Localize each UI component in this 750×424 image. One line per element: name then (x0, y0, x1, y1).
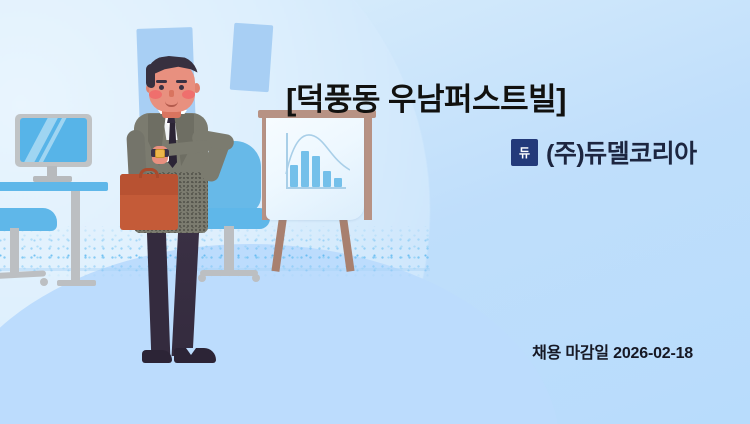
wristwatch-icon (155, 149, 165, 158)
eyebrow-right (176, 80, 187, 83)
easel-frame-right (364, 110, 372, 220)
trouser-leg-left (147, 225, 171, 356)
chair-wheel (40, 278, 48, 286)
chart-bar (290, 165, 298, 187)
company-name: (주)듀델코리아 (546, 134, 697, 170)
eye-right (179, 85, 184, 90)
left-office-chair-post (10, 228, 19, 276)
job-posting-banner: [덕풍동 우남퍼스트빌] 듀 (주)듀델코리아 채용 마감일 2026-02-1… (0, 0, 750, 424)
shoe-left (142, 350, 172, 363)
shoe-right (174, 348, 216, 363)
desk-top (0, 182, 108, 191)
chair-wheel (252, 274, 260, 282)
eyebrow-left (156, 80, 167, 83)
company-logo-badge: 듀 (511, 139, 538, 166)
chart-bar (312, 156, 320, 187)
cheek-blush-right (182, 90, 195, 99)
left-office-chair-seat (0, 208, 57, 231)
desk-base (57, 280, 96, 286)
chart-bar (334, 178, 342, 187)
cheek-blush-left (149, 90, 162, 99)
page-title: [덕풍동 우남퍼스트빌] (286, 74, 566, 119)
briefcase-handle (139, 168, 159, 178)
application-deadline: 채용 마감일 2026-02-18 (532, 339, 693, 363)
trouser-leg-right (172, 225, 200, 356)
businessman-illustration (108, 50, 248, 380)
company-row: 듀 (주)듀델코리아 (511, 134, 697, 170)
flipchart-paper (266, 116, 364, 220)
desk-leg (71, 191, 80, 282)
eye-left (159, 85, 164, 90)
nose (169, 90, 174, 97)
monitor-screen (20, 118, 87, 162)
chart-bar (323, 171, 331, 187)
chart-bar (301, 151, 309, 187)
